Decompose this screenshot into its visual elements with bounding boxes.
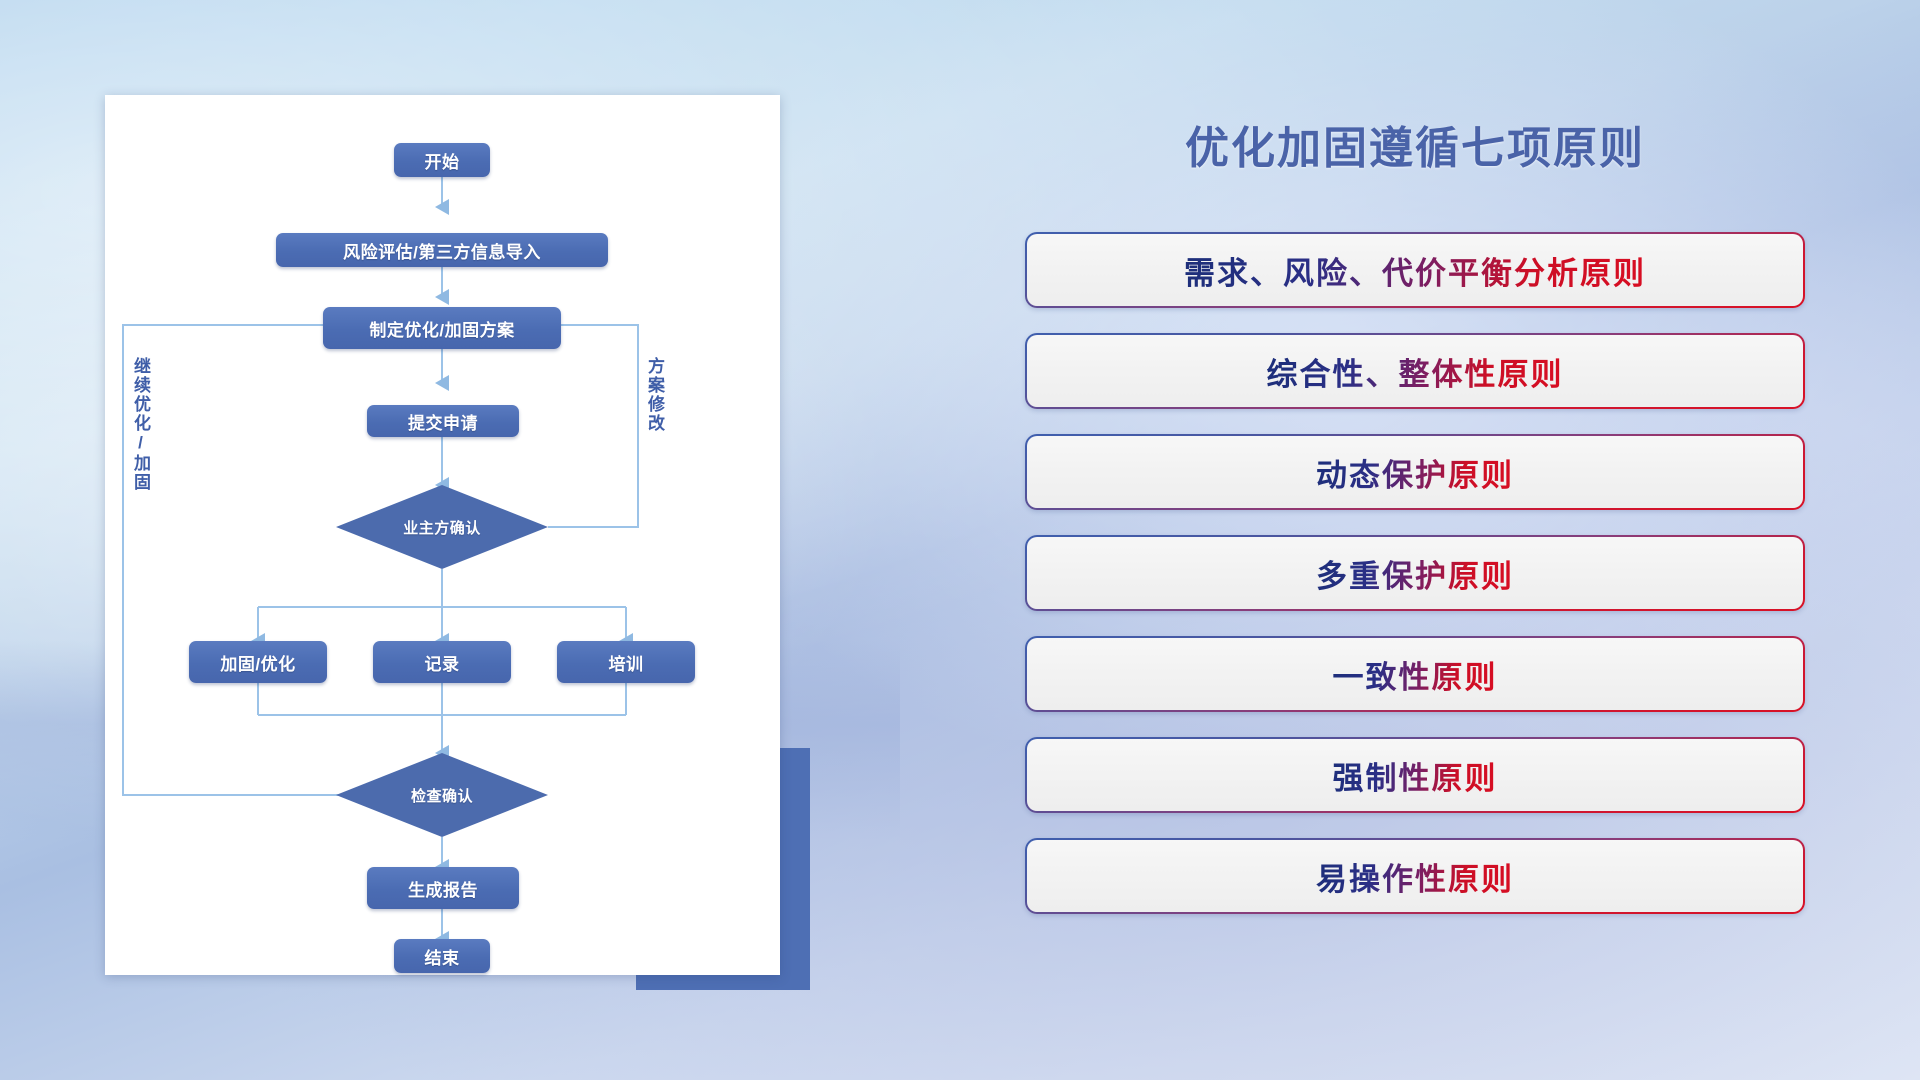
flow-node-label: 培训 bbox=[609, 650, 644, 675]
flow-node-inspection-confirm[interactable]: 检查确认 bbox=[336, 753, 548, 837]
flow-node-label: 风险评估/第三方信息导入 bbox=[343, 238, 541, 263]
flow-edge-label-continue-optimize: 继续优化/加固 bbox=[132, 357, 149, 492]
principle-card-inner: 一致性原则 bbox=[1027, 638, 1803, 710]
principle-card[interactable]: 综合性、整体性原则 bbox=[1025, 333, 1805, 409]
flow-node-training[interactable]: 培训 bbox=[557, 641, 695, 683]
flow-node-label: 结束 bbox=[425, 944, 460, 969]
principle-card-label: 需求、风险、代价平衡分析原则 bbox=[1184, 248, 1646, 293]
flow-node-generate-report[interactable]: 生成报告 bbox=[367, 867, 519, 909]
flow-node-make-plan[interactable]: 制定优化/加固方案 bbox=[323, 307, 561, 349]
principle-card-inner: 多重保护原则 bbox=[1027, 537, 1803, 609]
principle-card[interactable]: 强制性原则 bbox=[1025, 737, 1805, 813]
flow-node-label: 开始 bbox=[425, 148, 460, 173]
principle-card[interactable]: 易操作性原则 bbox=[1025, 838, 1805, 914]
principle-card-inner: 综合性、整体性原则 bbox=[1027, 335, 1803, 407]
flow-node-end[interactable]: 结束 bbox=[394, 939, 490, 973]
flowchart-canvas: 开始 风险评估/第三方信息导入 制定优化/加固方案 提交申请 业主方确认 加固/… bbox=[105, 95, 780, 975]
slide-canvas: 开始 风险评估/第三方信息导入 制定优化/加固方案 提交申请 业主方确认 加固/… bbox=[0, 0, 1920, 1080]
principle-card-inner: 易操作性原则 bbox=[1027, 840, 1803, 912]
flow-node-label: 制定优化/加固方案 bbox=[369, 316, 514, 341]
flow-node-reinforce-optimize[interactable]: 加固/优化 bbox=[189, 641, 327, 683]
principles-title: 优化加固遵循七项原则 bbox=[1020, 112, 1810, 176]
flow-node-submit-application[interactable]: 提交申请 bbox=[367, 405, 519, 437]
flowchart-panel: 开始 风险评估/第三方信息导入 制定优化/加固方案 提交申请 业主方确认 加固/… bbox=[105, 95, 780, 975]
flow-node-label: 加固/优化 bbox=[220, 650, 295, 675]
principle-card[interactable]: 一致性原则 bbox=[1025, 636, 1805, 712]
principle-card-label: 一致性原则 bbox=[1333, 652, 1498, 697]
principle-card[interactable]: 多重保护原则 bbox=[1025, 535, 1805, 611]
principle-card-label: 多重保护原则 bbox=[1316, 551, 1514, 596]
flow-node-label: 检查确认 bbox=[411, 785, 473, 806]
flow-node-label: 生成报告 bbox=[408, 876, 478, 901]
flow-node-record[interactable]: 记录 bbox=[373, 641, 511, 683]
flow-node-start[interactable]: 开始 bbox=[394, 143, 490, 177]
principle-card[interactable]: 动态保护原则 bbox=[1025, 434, 1805, 510]
flow-node-label: 提交申请 bbox=[408, 409, 478, 434]
principles-pane: 优化加固遵循七项原则 需求、风险、代价平衡分析原则 综合性、整体性原则 动态保护… bbox=[1020, 0, 1820, 1080]
principle-card-inner: 动态保护原则 bbox=[1027, 436, 1803, 508]
principle-card-inner: 强制性原则 bbox=[1027, 739, 1803, 811]
principle-card-label: 易操作性原则 bbox=[1316, 854, 1514, 899]
principle-card-label: 综合性、整体性原则 bbox=[1267, 349, 1564, 394]
flow-edge-label-plan-revision: 方案修改 bbox=[646, 357, 663, 433]
flow-node-risk-assessment[interactable]: 风险评估/第三方信息导入 bbox=[276, 233, 608, 267]
principle-card[interactable]: 需求、风险、代价平衡分析原则 bbox=[1025, 232, 1805, 308]
flow-node-label: 业主方确认 bbox=[403, 517, 481, 538]
principle-card-label: 强制性原则 bbox=[1333, 753, 1498, 798]
principle-card-inner: 需求、风险、代价平衡分析原则 bbox=[1027, 234, 1803, 306]
principles-card-list: 需求、风险、代价平衡分析原则 综合性、整体性原则 动态保护原则 多重保护原则 bbox=[1025, 232, 1815, 939]
principle-card-label: 动态保护原则 bbox=[1316, 450, 1514, 495]
flow-node-label: 记录 bbox=[425, 650, 460, 675]
flow-node-owner-confirm[interactable]: 业主方确认 bbox=[336, 485, 548, 569]
